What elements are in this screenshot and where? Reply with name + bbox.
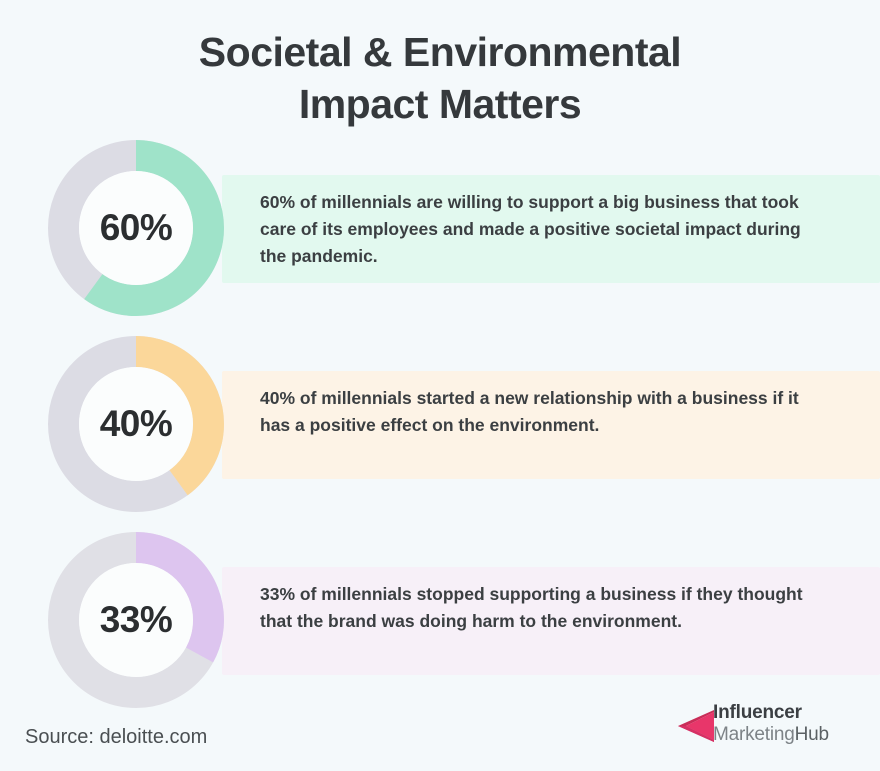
stat-description: 60% of millennials are willing to suppor… — [260, 189, 820, 270]
donut-chart-60: 60% — [48, 140, 224, 316]
stat-description: 40% of millennials started a new relatio… — [260, 385, 820, 439]
influencer-marketing-hub-logo: Influencer MarketingHub — [676, 700, 862, 752]
donut-chart-33: 33% — [48, 532, 224, 708]
logo-text-marketing: Marketing — [713, 724, 795, 745]
logo-text-influencer: Influencer — [713, 702, 829, 724]
donut-hole — [79, 367, 193, 481]
donut-svg — [48, 532, 224, 708]
logo-text-marketinghub: MarketingHub — [713, 724, 829, 746]
infographic-root: Societal & Environmental Impact Matters … — [0, 0, 880, 771]
stat-panel: 33% of millennials stopped supporting a … — [222, 567, 880, 675]
page-title: Societal & Environmental Impact Matters — [0, 26, 880, 130]
title-line-1: Societal & Environmental — [0, 26, 880, 78]
donut-svg — [48, 140, 224, 316]
logo-wordmark: Influencer MarketingHub — [713, 702, 829, 746]
stat-row: 60% of millennials are willing to suppor… — [0, 138, 880, 318]
donut-chart-40: 40% — [48, 336, 224, 512]
title-line-2: Impact Matters — [0, 78, 880, 130]
play-arrow-left-icon — [676, 706, 716, 746]
donut-svg — [48, 336, 224, 512]
source-attribution: Source: deloitte.com — [25, 726, 207, 749]
stat-panel: 60% of millennials are willing to suppor… — [222, 175, 880, 283]
stat-description: 33% of millennials stopped supporting a … — [260, 581, 820, 635]
donut-hole — [79, 563, 193, 677]
donut-hole — [79, 171, 193, 285]
logo-text-hub: Hub — [795, 724, 829, 745]
stat-panel: 40% of millennials started a new relatio… — [222, 371, 880, 479]
stat-row: 40% of millennials started a new relatio… — [0, 334, 880, 514]
stat-row: 33% of millennials stopped supporting a … — [0, 530, 880, 710]
